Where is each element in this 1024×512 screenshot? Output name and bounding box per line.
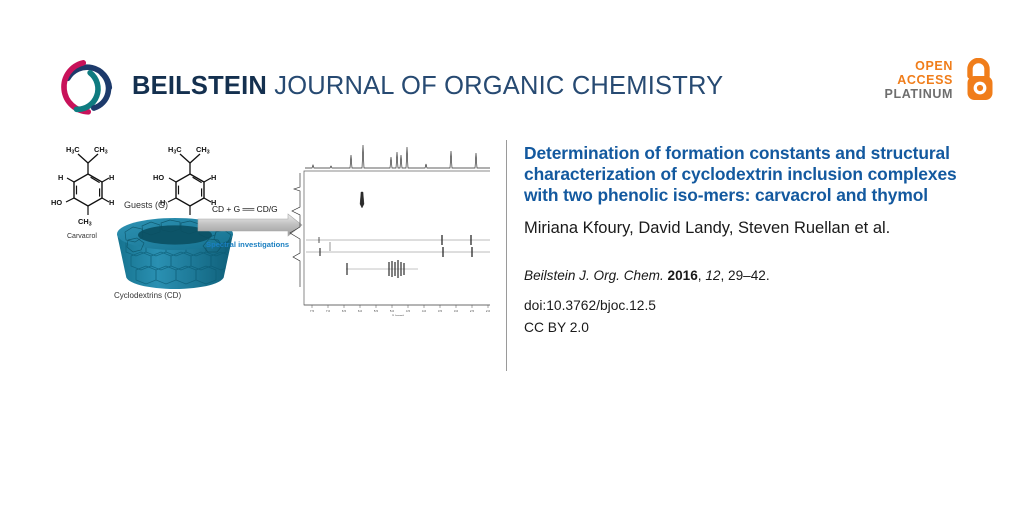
carvacrol-name: Carvacrol xyxy=(67,233,97,240)
oa-line-platinum: PLATINUM xyxy=(885,87,953,101)
wordmark-light: JOURNAL OF ORGANIC CHEMISTRY xyxy=(267,72,723,100)
open-access-text: OPEN ACCESS PLATINUM xyxy=(885,59,953,101)
article-doi[interactable]: doi:10.3762/bjoc.12.5 xyxy=(524,296,984,316)
svg-text:7.5: 7.5 xyxy=(310,309,315,313)
thymol-label-ch3-top: CH3 xyxy=(196,145,210,156)
graphical-abstract: H3C CH3 H H HO H CH3 Carvacrol H3C xyxy=(40,136,490,316)
citation-pages: 29–42 xyxy=(728,268,766,283)
journal-wordmark: BEILSTEIN JOURNAL OF ORGANIC CHEMISTRY xyxy=(132,74,723,100)
journal-brand: BEILSTEIN JOURNAL OF ORGANIC CHEMISTRY xyxy=(56,56,723,118)
wordmark-bold: BEILSTEIN xyxy=(132,72,267,100)
equilibrium-and-arrow: CD + G ══ CD/G Spectral investigations xyxy=(198,204,302,249)
carvacrol-h-right-lower: H xyxy=(109,198,114,207)
svg-text:3.0: 3.0 xyxy=(454,309,459,313)
cyclodextrin-illustration: Guests (G) xyxy=(114,200,233,300)
article-authors: Miriana Kfoury, David Landy, Steven Ruel… xyxy=(524,218,984,239)
open-lock-icon xyxy=(962,58,996,102)
open-access-badge: OPEN ACCESS PLATINUM xyxy=(885,58,996,102)
beilstein-circle-logo-icon xyxy=(56,56,118,118)
article-license[interactable]: CC BY 2.0 xyxy=(524,318,984,338)
oa-line-open: OPEN xyxy=(885,59,953,73)
svg-text:5.5: 5.5 xyxy=(374,309,379,313)
carvacrol-label-ch3-top: CH3 xyxy=(94,145,108,156)
article-info: Determination of formation constants and… xyxy=(524,143,984,338)
citation-journal: Beilstein J. Org. Chem. xyxy=(524,268,664,283)
carvacrol-ho: HO xyxy=(51,198,62,207)
svg-text:2.0: 2.0 xyxy=(486,309,490,313)
thymol-ho: HO xyxy=(153,173,164,182)
cyclodextrin-label: Cyclodextrins (CD) xyxy=(114,291,181,300)
equilibrium-equation: CD + G ══ CD/G xyxy=(212,204,278,214)
svg-text:6.0: 6.0 xyxy=(358,309,363,313)
article-title: Determination of formation constants and… xyxy=(524,143,984,207)
svg-text:3.5: 3.5 xyxy=(438,309,443,313)
svg-text:5.0: 5.0 xyxy=(390,309,395,313)
molecule-carvacrol: H3C CH3 H H HO H CH3 Carvacrol xyxy=(51,145,114,240)
arrow-caption: Spectral investigations xyxy=(206,240,289,249)
guests-label: Guests (G) xyxy=(124,200,168,210)
svg-text:4.0: 4.0 xyxy=(422,309,427,313)
oa-line-access: ACCESS xyxy=(885,73,953,87)
page-header: BEILSTEIN JOURNAL OF ORGANIC CHEMISTRY O… xyxy=(0,0,1024,132)
article-citation: Beilstein J. Org. Chem. 2016, 12, 29–42. xyxy=(524,268,984,283)
thymol-h-right-upper: H xyxy=(211,173,216,182)
carvacrol-h-left-upper: H xyxy=(58,173,63,182)
carvacrol-ch3-bottom: CH3 xyxy=(78,217,92,228)
carvacrol-h-right-upper: H xyxy=(109,173,114,182)
svg-text:6.5: 6.5 xyxy=(342,309,347,313)
svg-text:2.5: 2.5 xyxy=(470,309,475,313)
nmr-spectrum-thumbnail: 7.57.0 6.56.0 5.55.0 4.54.0 3.53.0 2.52.… xyxy=(290,145,490,316)
citation-year: 2016 xyxy=(668,268,698,283)
citation-volume: 12 xyxy=(705,268,720,283)
column-divider xyxy=(506,140,507,371)
graphical-abstract-figure: H3C CH3 H H HO H CH3 Carvacrol H3C xyxy=(40,136,490,316)
svg-text:4.5: 4.5 xyxy=(406,309,411,313)
svg-text:7.0: 7.0 xyxy=(326,309,331,313)
spectrum-x-axis-label: δ (ppm) xyxy=(392,314,404,316)
